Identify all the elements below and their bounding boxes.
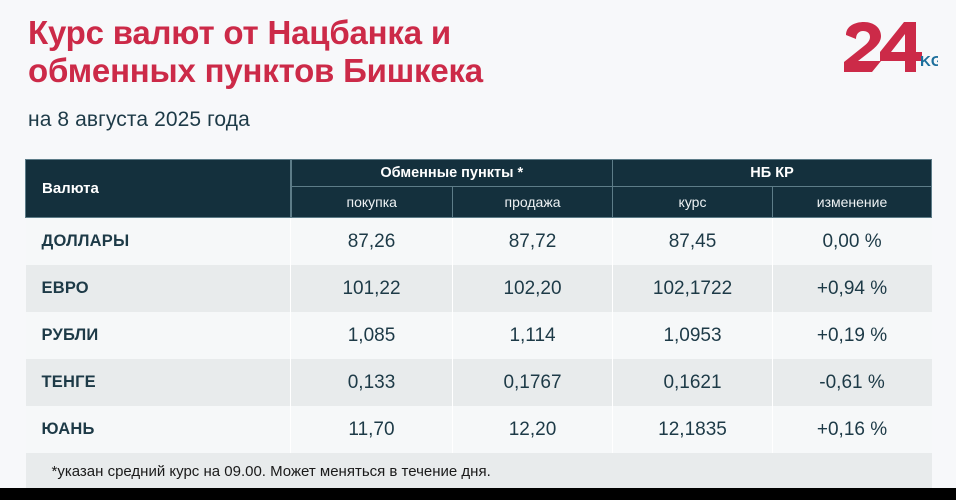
- bottom-bar: [0, 488, 956, 500]
- table-row: РУБЛИ 1,085 1,114 1,0953 +0,19 %: [26, 312, 932, 359]
- table-row: ДОЛЛАРЫ 87,26 87,72 87,45 0,00 %: [26, 218, 932, 266]
- cell-sell: 1,114: [453, 312, 613, 359]
- cell-change: 0,00 %: [773, 218, 932, 266]
- cell-sell: 102,20: [453, 265, 613, 312]
- table-head: Валюта Обменные пункты * НБ КР покупка п…: [26, 160, 932, 218]
- cell-change: +0,16 %: [773, 406, 932, 453]
- cell-rate: 87,45: [613, 218, 773, 266]
- cell-buy: 11,70: [291, 406, 453, 453]
- cell-buy: 0,133: [291, 359, 453, 406]
- logo-digit-two: [844, 22, 881, 72]
- currency-rates-table-container: Валюта Обменные пункты * НБ КР покупка п…: [25, 159, 931, 490]
- table-row: ЮАНЬ 11,70 12,20 12,1835 +0,16 %: [26, 406, 932, 453]
- cell-sell: 0,1767: [453, 359, 613, 406]
- page-title: Курс валют от Нацбанка и обменных пункто…: [28, 14, 688, 91]
- table-footnote: *указан средний курс на 09.00. Может мен…: [26, 453, 932, 490]
- cell-change: +0,19 %: [773, 312, 932, 359]
- cell-rate: 1,0953: [613, 312, 773, 359]
- infographic-root: Курс валют от Нацбанка и обменных пункто…: [0, 0, 956, 500]
- logo-kg-text: KG: [920, 53, 938, 70]
- table-header-group-row: Валюта Обменные пункты * НБ КР: [26, 160, 932, 187]
- cell-sell: 87,72: [453, 218, 613, 266]
- cell-buy: 101,22: [291, 265, 453, 312]
- column-header-change: изменение: [773, 187, 932, 218]
- column-header-sell: продажа: [453, 187, 613, 218]
- table-row: ЕВРО 101,22 102,20 102,1722 +0,94 %: [26, 265, 932, 312]
- cell-currency-name: ЮАНЬ: [26, 406, 291, 453]
- column-header-buy: покупка: [291, 187, 453, 218]
- column-header-rate: курс: [613, 187, 773, 218]
- cell-currency-name: ЕВРО: [26, 265, 291, 312]
- cell-buy: 87,26: [291, 218, 453, 266]
- column-group-exchange-points: Обменные пункты *: [291, 160, 613, 187]
- cell-change: -0,61 %: [773, 359, 932, 406]
- 24-kg-logo: KG: [842, 22, 938, 74]
- table-body: ДОЛЛАРЫ 87,26 87,72 87,45 0,00 % ЕВРО 10…: [26, 218, 932, 491]
- cell-change: +0,94 %: [773, 265, 932, 312]
- cell-currency-name: ТЕНГЕ: [26, 359, 291, 406]
- column-group-nbkr: НБ КР: [613, 160, 932, 187]
- currency-rates-table: Валюта Обменные пункты * НБ КР покупка п…: [25, 159, 932, 490]
- table-footnote-row: *указан средний курс на 09.00. Может мен…: [26, 453, 932, 490]
- cell-buy: 1,085: [291, 312, 453, 359]
- logo-digit-four: [880, 22, 922, 72]
- cell-currency-name: ДОЛЛАРЫ: [26, 218, 291, 266]
- table-row: ТЕНГЕ 0,133 0,1767 0,1621 -0,61 %: [26, 359, 932, 406]
- page-subtitle: на 8 августа 2025 года: [28, 108, 688, 132]
- page-header: Курс валют от Нацбанка и обменных пункто…: [28, 14, 688, 132]
- 24-kg-logo-icon: KG: [842, 22, 938, 74]
- cell-rate: 0,1621: [613, 359, 773, 406]
- cell-rate: 102,1722: [613, 265, 773, 312]
- cell-sell: 12,20: [453, 406, 613, 453]
- column-header-currency: Валюта: [26, 160, 291, 218]
- cell-currency-name: РУБЛИ: [26, 312, 291, 359]
- cell-rate: 12,1835: [613, 406, 773, 453]
